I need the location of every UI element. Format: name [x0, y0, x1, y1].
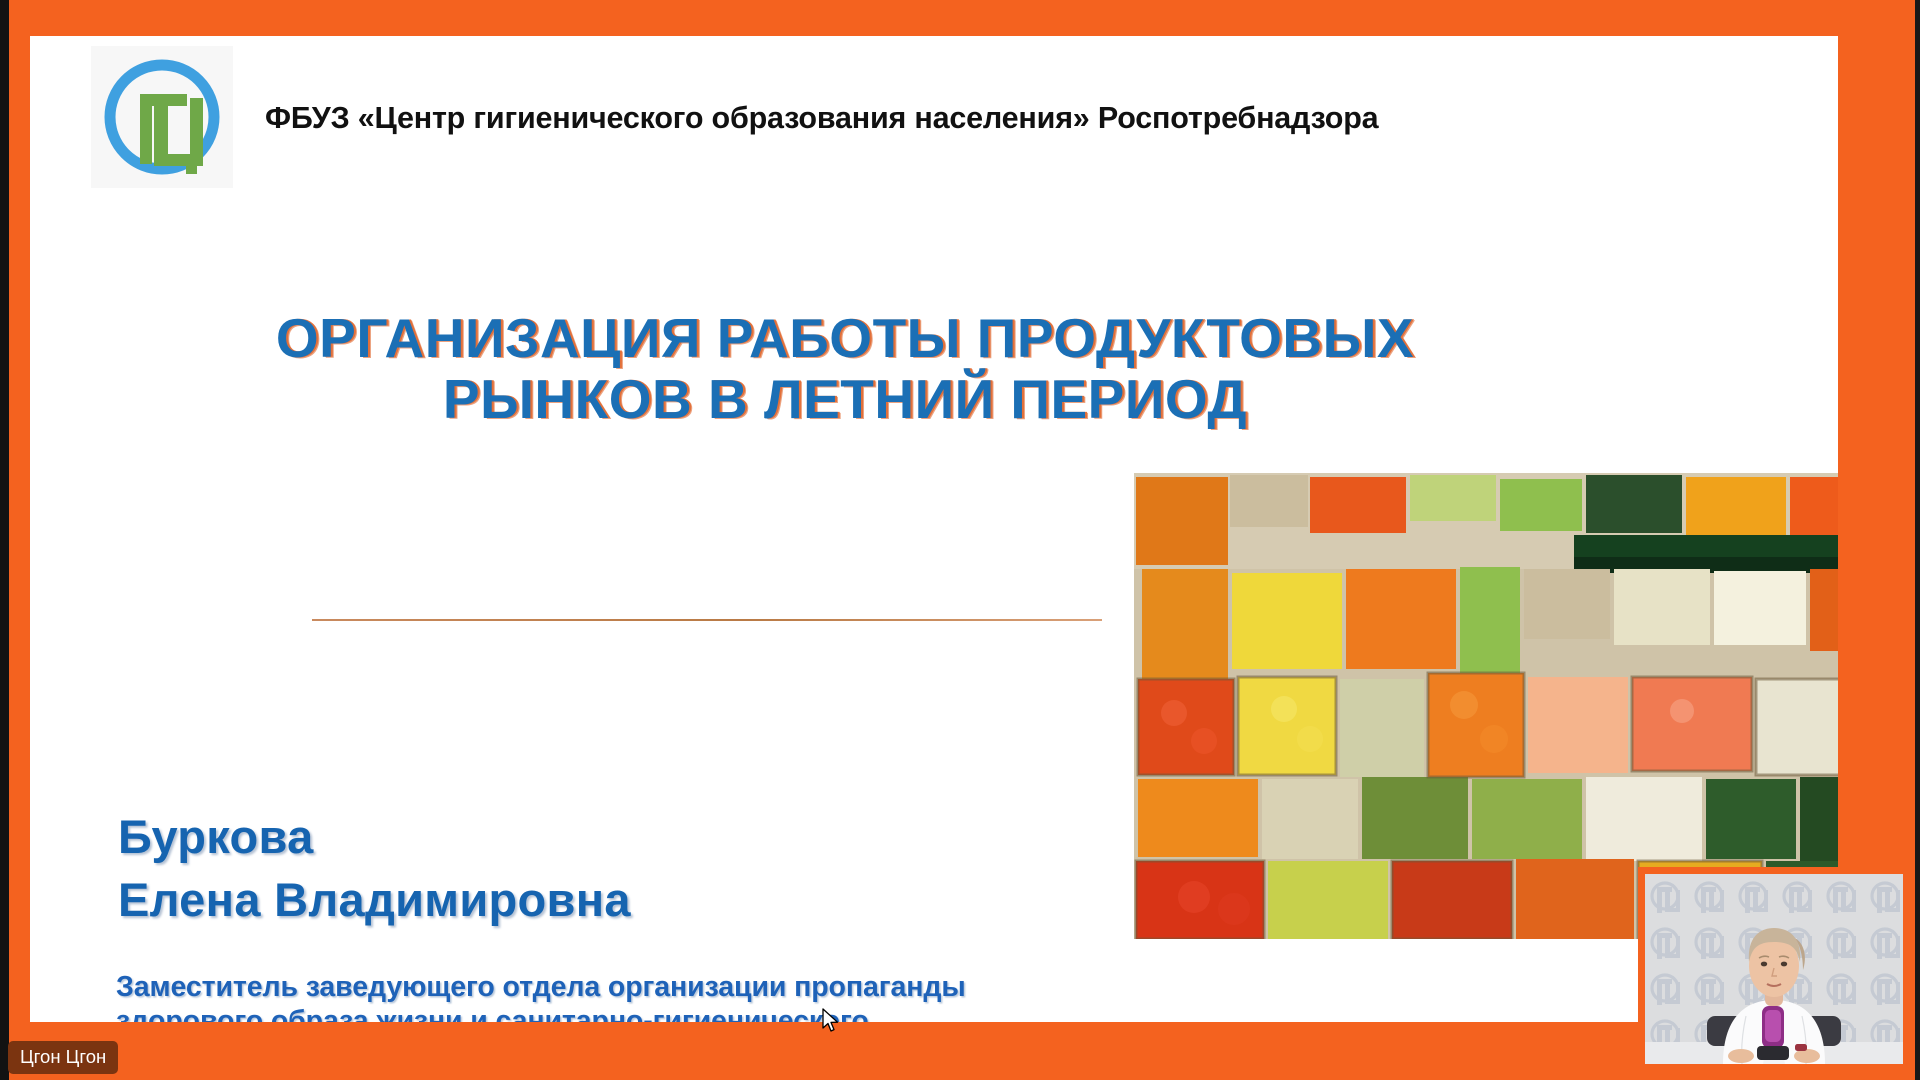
title-divider-rule	[312, 619, 1102, 621]
slide-title-line-2: РЫНКОВ В ЛЕТНИЙ ПЕРИОД	[180, 369, 1510, 430]
slide-canvas: ФБУЗ «Центр гигиенического образования н…	[30, 36, 1838, 1022]
tsgon-logo-icon	[91, 46, 233, 188]
screen-bezel-right	[1915, 0, 1920, 1080]
presenter-role-line-2: здорового образа жизни и санитарно-гигие…	[116, 1005, 1366, 1022]
webcam-video-surface	[1645, 874, 1903, 1064]
screen-bezel-left	[0, 0, 9, 1080]
presenter-surname: Буркова	[118, 806, 631, 869]
presenter-name: Буркова Елена Владимировна	[118, 806, 631, 932]
presenter-role: Заместитель заведующего отдела организац…	[116, 971, 1366, 1022]
taskbar-window-badge[interactable]: Цгон Цгон	[8, 1041, 118, 1074]
presenter-webcam-feed[interactable]	[1638, 867, 1910, 1072]
presenter-role-line-1: Заместитель заведующего отдела организац…	[116, 971, 1366, 1005]
slide-title-line-1: ОРГАНИЗАЦИЯ РАБОТЫ ПРОДУКТОВЫХ	[180, 308, 1510, 369]
presenter-given-name: Елена Владимировна	[118, 869, 631, 932]
slide-title: ОРГАНИЗАЦИЯ РАБОТЫ ПРОДУКТОВЫХ РЫНКОВ В …	[180, 308, 1510, 429]
presentation-screen: ФБУЗ «Центр гигиенического образования н…	[0, 0, 1920, 1080]
organisation-title: ФБУЗ «Центр гигиенического образования н…	[265, 101, 1378, 136]
